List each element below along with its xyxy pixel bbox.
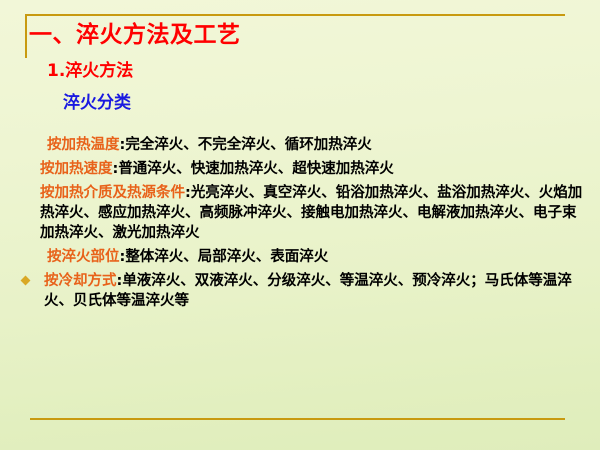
- decorative-top-rule: [25, 14, 565, 16]
- list-item-value: 单液淬火、双液淬火、分级淬火、等温淬火、预冷淬火；马氏体等温淬火、贝氏体等温淬火…: [44, 273, 572, 309]
- list-item: 按淬火部位:整体淬火、局部淬火、表面淬火: [18, 247, 588, 267]
- page-title: 一、淬火方法及工艺: [29, 21, 241, 49]
- diamond-bullet-icon: [21, 276, 31, 286]
- list-item-value: 普通淬火、快速加热淬火、超快速加热淬火: [118, 161, 394, 177]
- list-item: 按加热温度:完全淬火、不完全淬火、循环加热淬火: [18, 135, 588, 155]
- list-item-value: 整体淬火、局部淬火、表面淬火: [125, 249, 328, 265]
- list-item: 按冷却方式:单液淬火、双液淬火、分级淬火、等温淬火、预冷淬火；马氏体等温淬火、贝…: [18, 271, 588, 311]
- classification-list: 按加热温度:完全淬火、不完全淬火、循环加热淬火按加热速度:普通淬火、快速加热淬火…: [18, 135, 588, 315]
- list-item: 按加热介质及热源条件:光亮淬火、真空淬火、铅浴加热淬火、盐浴加热淬火、火焰加热淬…: [18, 183, 588, 243]
- list-item-label: 按加热介质及热源条件: [40, 185, 185, 201]
- list-item-value: 完全淬火、不完全淬火、循环加热淬火: [125, 137, 372, 153]
- list-item: 按加热速度:普通淬火、快速加热淬火、超快速加热淬火: [18, 159, 588, 179]
- list-item-label: 按加热温度: [47, 137, 120, 153]
- section-heading-2: 淬火分类: [63, 92, 131, 114]
- list-item-label: 按淬火部位: [47, 249, 120, 265]
- list-item-label: 按冷却方式: [44, 273, 117, 289]
- slide-canvas: 一、淬火方法及工艺 1.淬火方法 淬火分类 按加热温度:完全淬火、不完全淬火、循…: [0, 0, 600, 450]
- decorative-vertical-rule: [25, 14, 27, 58]
- decorative-bottom-rule: [30, 418, 565, 420]
- list-item-label: 按加热速度: [40, 161, 113, 177]
- section-heading-1: 1.淬火方法: [47, 60, 133, 82]
